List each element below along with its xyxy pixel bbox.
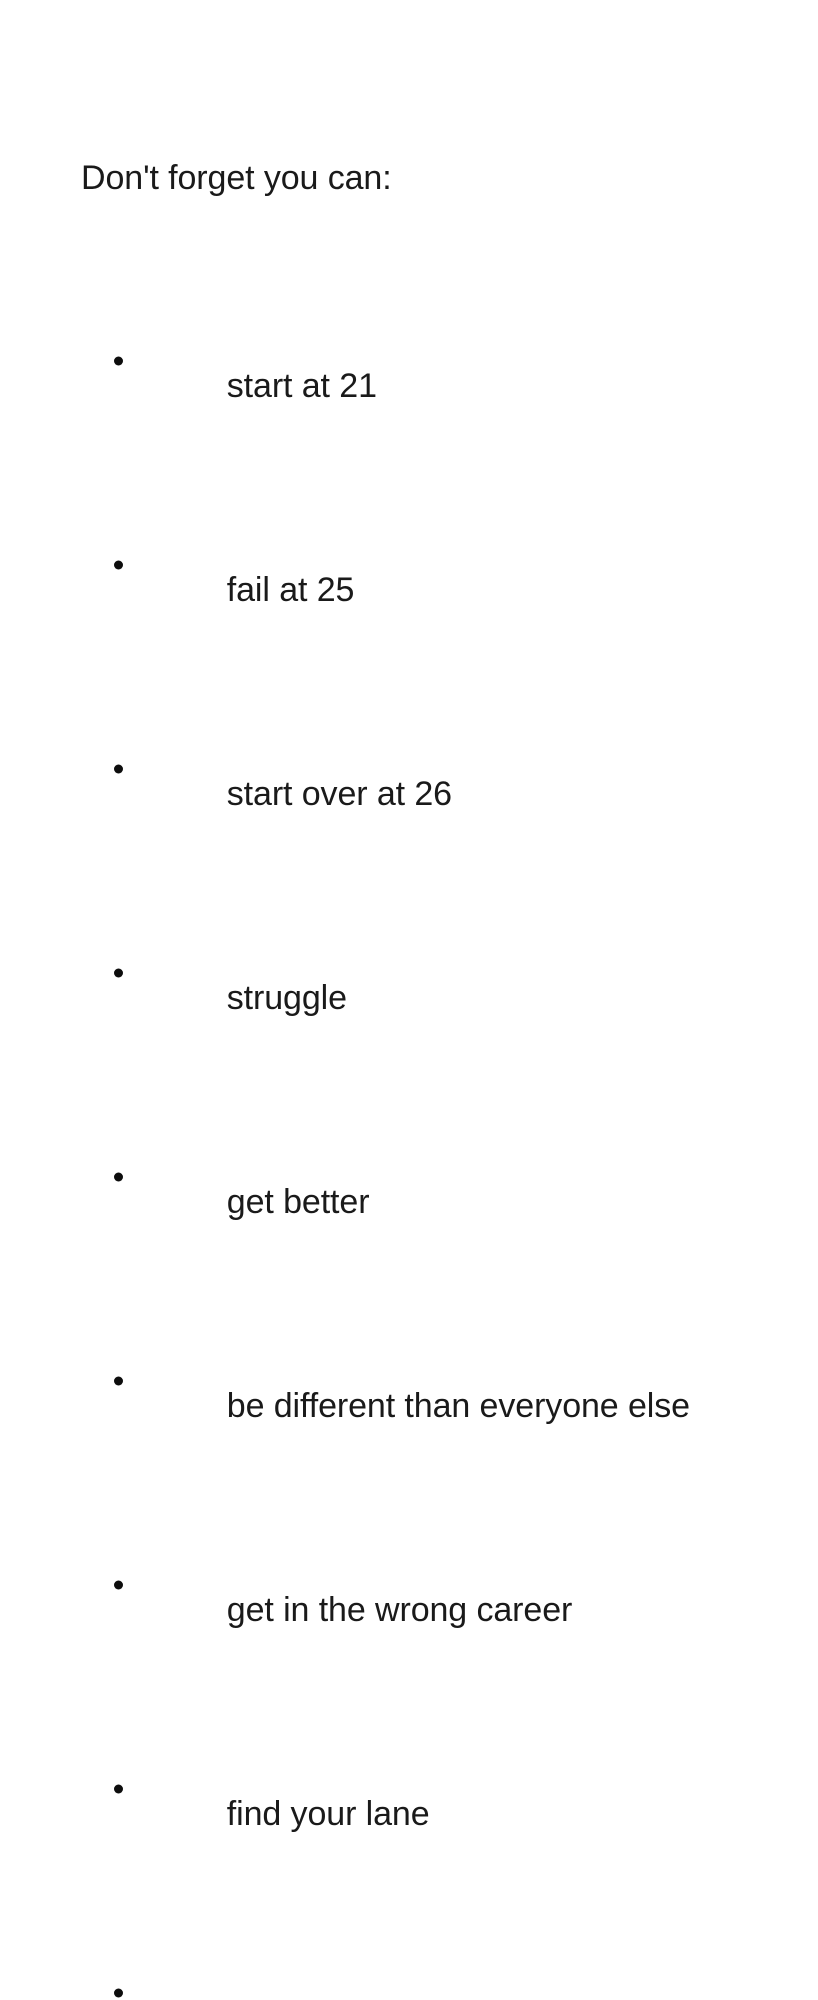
- bullet-dot-icon: [114, 1581, 123, 1590]
- text-block: Don't forget you can: start at 21 fail a…: [81, 157, 741, 2000]
- bullet-dot-icon: [114, 1785, 123, 1794]
- bullet-dot-icon: [114, 1377, 123, 1386]
- list-item-label: start over at 26: [227, 775, 452, 813]
- list-item-label: struggle: [227, 979, 347, 1017]
- list-item: get in the wrong career: [81, 1483, 741, 1687]
- list-item: find your lane: [81, 1687, 741, 1891]
- bullet-dot-icon: [114, 969, 123, 978]
- list-item-label: be different than everyone else: [227, 1387, 690, 1425]
- bullet-dot-icon: [114, 1989, 123, 1998]
- list-item-label: find your lane: [227, 1795, 430, 1833]
- list-item: start over at 26: [81, 667, 741, 871]
- list-item: start at 21: [81, 259, 741, 463]
- bullet-dot-icon: [114, 765, 123, 774]
- bullet-dot-icon: [114, 1173, 123, 1182]
- capabilities-list: start at 21 fail at 25 start over at 26 …: [81, 259, 741, 2000]
- list-item: find the right career: [81, 1891, 741, 2000]
- bullet-dot-icon: [114, 561, 123, 570]
- list-item-label: start at 21: [227, 367, 377, 405]
- list-item: get better: [81, 1075, 741, 1279]
- list-item-label: get in the wrong career: [227, 1591, 572, 1629]
- page-title: Don't forget you can:: [81, 157, 741, 199]
- bullet-dot-icon: [114, 357, 123, 366]
- list-item: fail at 25: [81, 463, 741, 667]
- list-item-label: find the right career: [227, 1999, 518, 2000]
- list-item: be different than everyone else: [81, 1279, 741, 1483]
- list-item: struggle: [81, 871, 741, 1075]
- list-item-label: fail at 25: [227, 571, 355, 609]
- document-page: Don't forget you can: start at 21 fail a…: [0, 0, 818, 1000]
- list-item-label: get better: [227, 1183, 370, 1221]
